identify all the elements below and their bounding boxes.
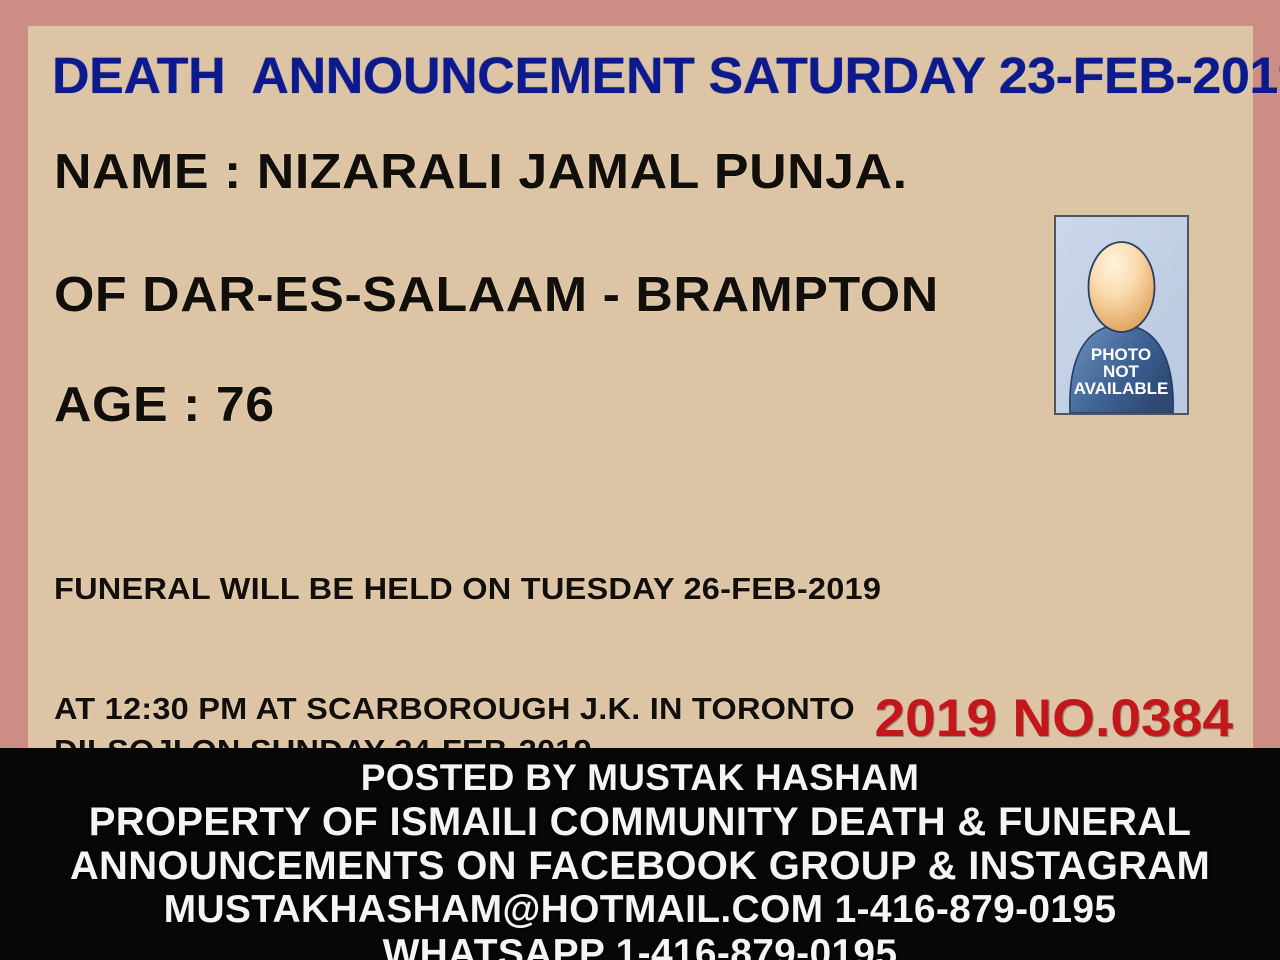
reference-number: 2019 NO.0384 xyxy=(827,691,1233,747)
deceased-name: NAME : NIZARALI JAMAL PUNJA. xyxy=(54,146,908,198)
funeral-detail-line: FUNERAL WILL BE HELD ON TUESDAY 26-FEB-2… xyxy=(54,569,881,609)
photo-not-available-placeholder: PHOTO NOT AVAILABLE xyxy=(1054,215,1189,415)
svg-text:AVAILABLE: AVAILABLE xyxy=(1074,379,1169,398)
death-announcement-poster: DEATH ANNOUNCEMENT SATURDAY 23-FEB-2019 … xyxy=(0,0,1280,960)
footer-line-email-phone: MUSTAKHASHAM@HOTMAIL.COM 1-416-879-0195 xyxy=(0,888,1280,932)
footer-line-channels: ANNOUNCEMENTS ON FACEBOOK GROUP & INSTAG… xyxy=(0,844,1280,888)
footer-line-whatsapp: WHATSAPP 1-416-879-0195 xyxy=(0,932,1280,960)
footer-credits: POSTED BY MUSTAK HASHAM PROPERTY OF ISMA… xyxy=(0,748,1280,960)
announcement-card: DEATH ANNOUNCEMENT SATURDAY 23-FEB-2019 … xyxy=(28,26,1253,748)
deceased-origin: OF DAR-ES-SALAAM - BRAMPTON xyxy=(54,269,939,321)
footer-line-posted-by: POSTED BY MUSTAK HASHAM xyxy=(0,755,1280,800)
footer-line-property: PROPERTY OF ISMAILI COMMUNITY DEATH & FU… xyxy=(0,800,1280,844)
person-silhouette-icon: PHOTO NOT AVAILABLE xyxy=(1056,217,1187,413)
page-title: DEATH ANNOUNCEMENT SATURDAY 23-FEB-2019 xyxy=(52,48,1256,104)
deceased-age: AGE : 76 xyxy=(54,379,275,431)
